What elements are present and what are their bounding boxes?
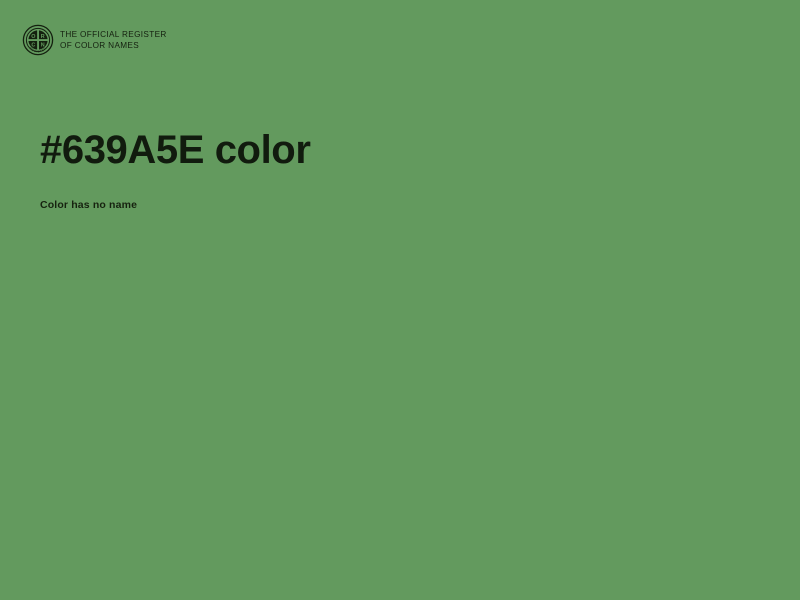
brand-header[interactable]: O R C N REGISTER THE OFFICIAL REGISTER O…: [22, 24, 167, 56]
color-swatch-page: O R C N REGISTER THE OFFICIAL REGISTER O…: [0, 0, 800, 600]
brand-wordmark: THE OFFICIAL REGISTER OF COLOR NAMES: [60, 29, 167, 51]
svg-text:R: R: [41, 34, 45, 40]
color-info-block: #639A5E color Color has no name: [40, 126, 740, 212]
brand-wordmark-line-2: OF COLOR NAMES: [60, 41, 167, 52]
svg-text:O: O: [31, 34, 35, 40]
register-seal-icon: O R C N REGISTER: [22, 24, 54, 56]
brand-wordmark-line-1: THE OFFICIAL REGISTER: [60, 30, 167, 41]
color-name-status: Color has no name: [40, 174, 740, 212]
page-title: #639A5E color: [40, 126, 740, 174]
